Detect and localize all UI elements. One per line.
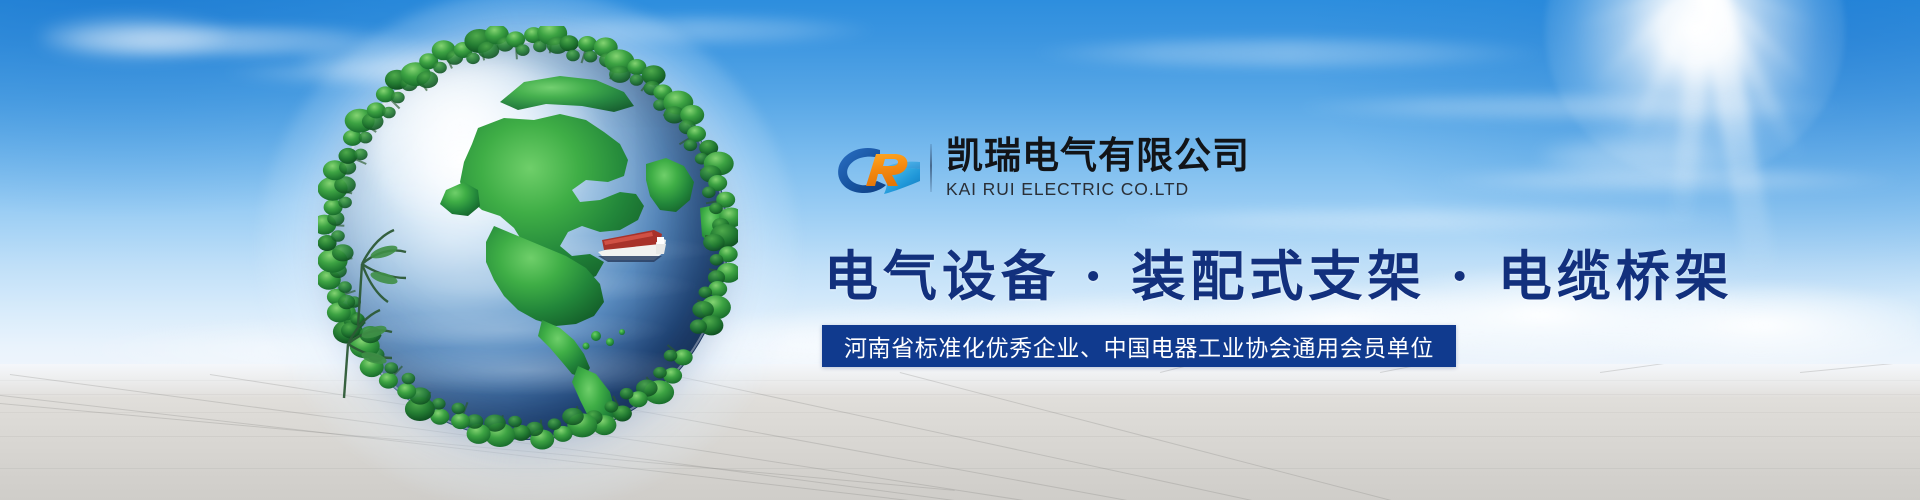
- paved-plaza: [0, 364, 1920, 500]
- cargo-ship-icon: [596, 226, 670, 275]
- hero-tagline: 电气设备 · 装配式支架 · 电缆桥架: [824, 232, 1734, 311]
- company-name-en: KAI RUI ELECTRIC CO.LTD: [946, 179, 1250, 200]
- green-earth-globe: [318, 30, 738, 460]
- credentials-badge: 河南省标准化优秀企业、中国电器工业协会通用会员单位: [822, 325, 1456, 367]
- credentials-badge-text: 河南省标准化优秀企业、中国电器工业协会通用会员单位: [844, 329, 1434, 363]
- cr-monogram-logo: [836, 136, 922, 200]
- company-name-cn: 凯瑞电气有限公司: [946, 136, 1250, 175]
- globe-sphere: [328, 40, 728, 440]
- brand-lockup: 凯瑞电气有限公司 KAI RUI ELECTRIC CO.LTD: [836, 136, 1250, 200]
- hero-banner: 凯瑞电气有限公司 KAI RUI ELECTRIC CO.LTD 电气设备 · …: [0, 0, 1920, 500]
- brand-divider: [930, 144, 932, 192]
